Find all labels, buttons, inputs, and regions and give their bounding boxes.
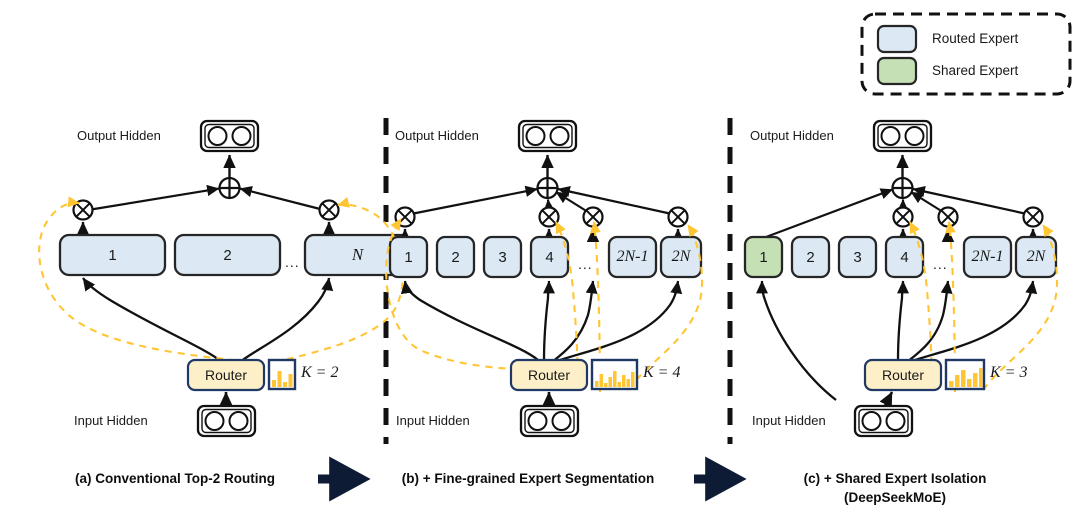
diagram-svg (0, 0, 1080, 520)
expert-box-b-3 (484, 237, 521, 277)
output-hidden-node-b (519, 121, 576, 151)
expert-box-c-2 (792, 237, 829, 277)
caption-panel-c-line2: (DeepSeekMoE) (745, 490, 1045, 505)
input-hidden-label-b: Input Hidden (396, 413, 470, 428)
router-label-c: Router (871, 367, 935, 383)
router-label-a: Router (194, 367, 258, 383)
expert-box-b-1 (390, 237, 427, 277)
panel-c-graphics (745, 121, 1057, 436)
ellipsis-a: ... (285, 254, 300, 270)
sum-node-a (220, 178, 240, 198)
product-gate-c-ellipsis (939, 208, 958, 227)
k-label-a: K = 2 (301, 364, 338, 382)
panel-a-graphics (39, 121, 410, 436)
input-hidden-node-c (855, 406, 912, 436)
legend-panel (862, 14, 1070, 94)
gate-weight-curve-a-1 (39, 203, 262, 363)
expert-box-b-2n1 (609, 237, 656, 277)
expert-box-c-3 (839, 237, 876, 277)
ellipsis-b: ... (578, 256, 593, 272)
expert-box-b-4 (531, 237, 568, 277)
input-hidden-label-a: Input Hidden (74, 413, 148, 428)
router-label-b: Router (517, 367, 581, 383)
output-hidden-node-c (874, 121, 931, 151)
input-hidden-label-c: Input Hidden (752, 413, 826, 428)
expert-box-c-2n (1016, 237, 1056, 277)
output-hidden-label-a: Output Hidden (77, 128, 161, 143)
k-label-b: K = 4 (643, 364, 680, 382)
figure-canvas: Routed Expert Shared Expert Output Hidde… (0, 0, 1080, 520)
product-gate-b-ellipsis (584, 208, 603, 227)
caption-panel-a: (a) Conventional Top-2 Routing (40, 471, 310, 486)
caption-panel-c: (c) + Shared Expert Isolation (745, 471, 1045, 486)
product-gate-b-2n (669, 208, 688, 227)
product-gate-a-n (320, 201, 339, 220)
panel-b-graphics (386, 121, 702, 436)
legend-label-shared-expert: Shared Expert (932, 63, 1018, 78)
router-score-bars-c (946, 360, 984, 389)
k-label-c: K = 3 (990, 364, 1027, 382)
expert-box-a-2 (175, 235, 280, 275)
sum-node-b (538, 178, 558, 198)
gate-weight-curve-a-n (274, 204, 403, 363)
caption-panel-b: (b) + Fine-grained Expert Segmentation (368, 471, 688, 486)
legend-swatch-routed (878, 26, 916, 52)
legend-label-routed-expert: Routed Expert (932, 31, 1018, 46)
sum-node-c (893, 178, 913, 198)
output-hidden-label-c: Output Hidden (750, 128, 834, 143)
input-hidden-node-b (521, 406, 578, 436)
expert-box-c-2n1 (964, 237, 1011, 277)
output-hidden-label-b: Output Hidden (395, 128, 479, 143)
expert-box-c-1 (745, 237, 782, 277)
router-score-bars-a (269, 360, 295, 389)
output-hidden-node-a (201, 121, 258, 151)
legend-swatch-shared (878, 58, 916, 84)
ellipsis-c: ... (933, 256, 948, 272)
input-hidden-node-a (198, 406, 255, 436)
expert-box-b-2n (661, 237, 701, 277)
expert-box-b-2 (437, 237, 474, 277)
router-score-bars-b (592, 360, 637, 389)
expert-box-a-1 (60, 235, 165, 275)
product-gate-c-2n (1024, 208, 1043, 227)
